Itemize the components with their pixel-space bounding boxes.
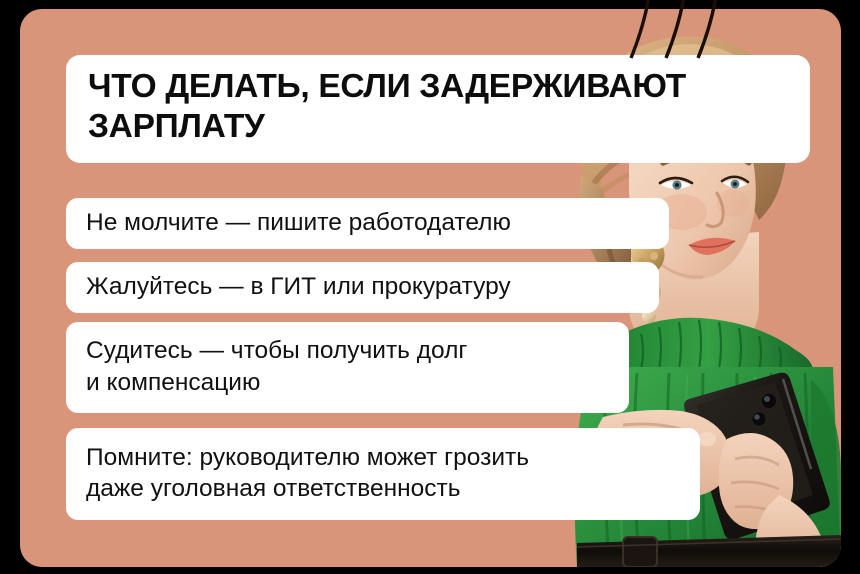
tip-text-2: Жалуйтесь — в ГИТ или прокуратуру <box>86 271 639 302</box>
tip-panel-2: Жалуйтесь — в ГИТ или прокуратуру <box>66 262 659 313</box>
tip-panel-4: Помните: руководителю может грозить даже… <box>66 428 700 520</box>
tip-text-4: Помните: руководителю может грозить даже… <box>86 442 680 504</box>
tip-text-3: Судитесь — чтобы получить долг и компенс… <box>86 335 609 397</box>
infographic-card: ЧТО ДЕЛАТЬ, ЕСЛИ ЗАДЕРЖИВАЮТ ЗАРПЛАТУ Не… <box>20 9 841 567</box>
page-title: ЧТО ДЕЛАТЬ, ЕСЛИ ЗАДЕРЖИВАЮТ ЗАРПЛАТУ <box>88 67 788 146</box>
headline-panel: ЧТО ДЕЛАТЬ, ЕСЛИ ЗАДЕРЖИВАЮТ ЗАРПЛАТУ <box>66 55 810 163</box>
tip-panel-3: Судитесь — чтобы получить долг и компенс… <box>66 322 629 413</box>
tip-panel-1: Не молчите — пишите работодателю <box>66 198 669 249</box>
infographic-canvas: ЧТО ДЕЛАТЬ, ЕСЛИ ЗАДЕРЖИВАЮТ ЗАРПЛАТУ Не… <box>0 0 860 574</box>
tip-text-1: Не молчите — пишите работодателю <box>86 207 649 238</box>
